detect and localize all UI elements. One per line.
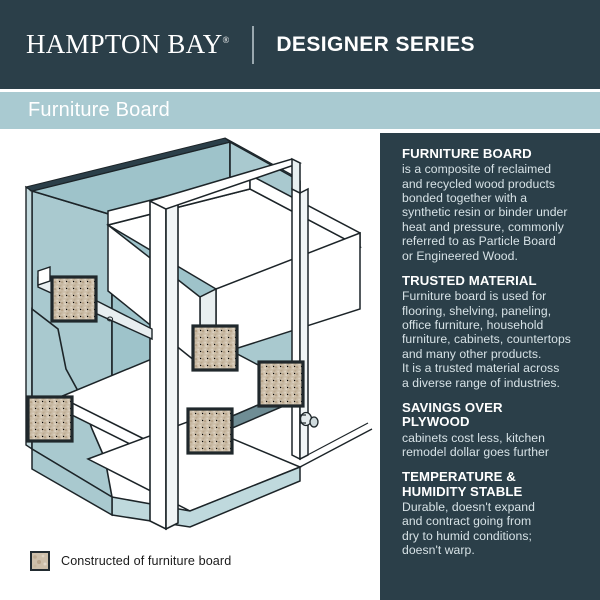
swatch-cabinet-side-lower bbox=[28, 397, 72, 441]
cabinet-diagram-svg bbox=[0, 129, 380, 539]
section-body: Durable, doesn't expand and contract goi… bbox=[402, 500, 584, 558]
info-panel: FURNITURE BOARD is a composite of reclai… bbox=[380, 133, 600, 600]
section-body: cabinets cost less, kitchen remodel doll… bbox=[402, 431, 584, 460]
legend-texture bbox=[32, 553, 48, 569]
info-section-temperature-humidity-stable: TEMPERATURE & HUMIDITY STABLE Durable, d… bbox=[402, 470, 584, 557]
swatch-shelf-front bbox=[193, 326, 237, 370]
info-section-savings-over-plywood: SAVINGS OVER PLYWOOD cabinets cost less,… bbox=[402, 401, 584, 459]
info-section-trusted-material: TRUSTED MATERIAL Furniture board is used… bbox=[402, 274, 584, 390]
product-info-graphic: HAMPTON BAY® DESIGNER SERIES Furniture B… bbox=[0, 0, 600, 600]
swatch-cabinet-side-upper bbox=[52, 277, 96, 321]
face-frame-left-stile bbox=[150, 201, 166, 529]
face-frame-top-rail-edge bbox=[292, 159, 300, 193]
cabinet-hinge-icon bbox=[300, 413, 318, 428]
section-heading: TEMPERATURE & HUMIDITY STABLE bbox=[402, 470, 584, 498]
info-section-furniture-board: FURNITURE BOARD is a composite of reclai… bbox=[402, 147, 584, 263]
brand-logo-text: HAMPTON BAY bbox=[26, 29, 223, 59]
swatch-cabinet-bottom bbox=[188, 409, 232, 453]
section-body: Furniture board is used for flooring, sh… bbox=[402, 289, 584, 390]
section-title: Furniture Board bbox=[28, 99, 170, 122]
brand-header: HAMPTON BAY® DESIGNER SERIES bbox=[0, 0, 600, 89]
legend-label: Constructed of furniture board bbox=[61, 554, 231, 568]
legend-swatch-icon bbox=[30, 551, 50, 571]
floor-line-2 bbox=[300, 423, 368, 459]
floor-line bbox=[300, 429, 372, 467]
header-divider bbox=[252, 26, 254, 64]
section-bar: Furniture Board bbox=[0, 92, 600, 129]
series-title: DESIGNER SERIES bbox=[276, 33, 475, 57]
face-frame-left-stile-edge bbox=[166, 203, 178, 529]
legend: Constructed of furniture board bbox=[30, 551, 231, 571]
cabinet-illustration bbox=[0, 129, 380, 539]
swatch-cabinet-back-right bbox=[259, 362, 303, 406]
registered-trademark-icon: ® bbox=[223, 35, 230, 45]
section-heading: FURNITURE BOARD bbox=[402, 147, 584, 161]
drawer-slide-bracket bbox=[38, 267, 50, 285]
face-frame-right-stile bbox=[292, 189, 300, 459]
section-body: is a composite of reclaimed and recycled… bbox=[402, 162, 584, 263]
section-heading: TRUSTED MATERIAL bbox=[402, 274, 584, 288]
brand-logo: HAMPTON BAY® bbox=[26, 29, 229, 60]
section-heading: SAVINGS OVER PLYWOOD bbox=[402, 401, 584, 429]
